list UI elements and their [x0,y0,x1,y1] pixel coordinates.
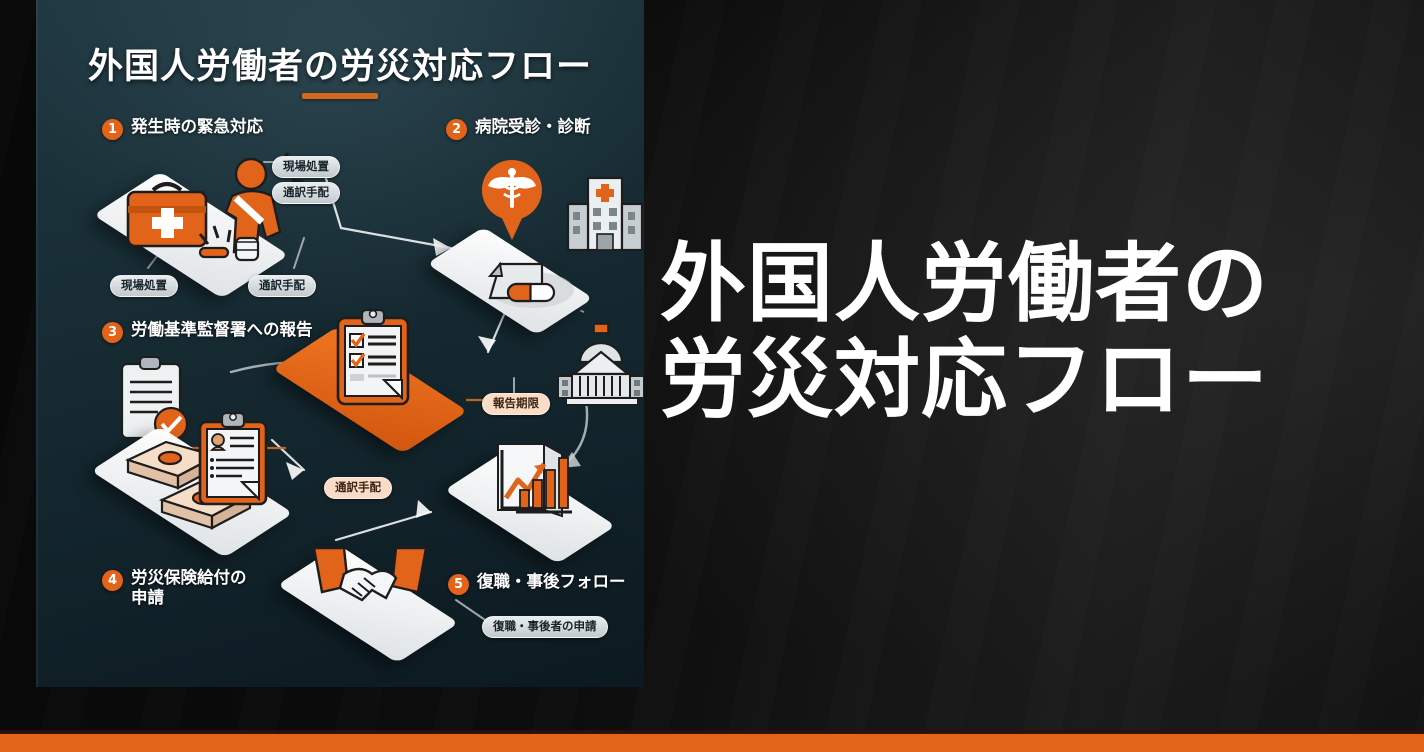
step-header-3: 3 労働基準監督署への報告 [102,320,313,343]
step-badge-5: 5 [448,574,469,595]
medical-document-icon [476,248,586,316]
headline-line-1: 外国人労働者の [660,236,1420,332]
callout-tsuyaku-tehai-top: 通訳手配 [272,182,340,204]
step-label-4: 労災保険給付の 申請 [131,568,247,608]
government-building-icon [556,322,644,408]
step-label-1: 発生時の緊急対応 [131,117,263,137]
step-label-2: 病院受診・診断 [475,117,591,137]
callout-genba-shochi: 現場処置 [110,275,178,297]
caduceus-pin-icon [474,156,550,248]
step-header-5: 5 復職・事後フォロー [448,572,626,595]
pill-capsule-icon [508,284,554,301]
step-badge-1: 1 [102,119,123,140]
step-badge-3: 3 [102,322,123,343]
step-header-2: 2 病院受診・診断 [446,117,591,140]
infographic-panel: 外国人労働者の労災対応フロー [36,0,644,687]
step-header-1: 1 発生時の緊急対応 [102,117,263,140]
headline-line-2: 労災対応フロー [660,332,1420,428]
checklist-clipboard-icon [332,306,414,408]
step-header-4: 4 労災保険給付の 申請 [102,568,247,608]
handshake-icon [308,540,432,624]
callout-tsuyaku-tehai-mid: 通訳手配 [324,477,392,499]
step-badge-4: 4 [102,570,123,591]
growth-chart-icon [476,432,596,528]
application-form-icon [194,408,274,512]
callout-genba-shochi-top: 現場処置 [272,156,340,178]
hospital-building-icon [564,168,644,260]
callout-tsuyaku-tehai: 通訳手配 [248,275,316,297]
panel-left-edge [36,0,38,687]
callout-fukushoku-shinsei: 復職・事後者の申請 [482,616,608,638]
bottom-accent-bar [0,734,1424,752]
step-badge-2: 2 [446,119,467,140]
poster-canvas: 外国人労働者の労災対応フロー [0,0,1424,752]
poster-headline: 外国人労働者の 労災対応フロー [660,236,1420,429]
step-label-5: 復職・事後フォロー [477,572,626,592]
callout-houkoku-kigen: 報告期限 [482,393,550,415]
step-label-3: 労働基準監督署への報告 [131,320,313,340]
